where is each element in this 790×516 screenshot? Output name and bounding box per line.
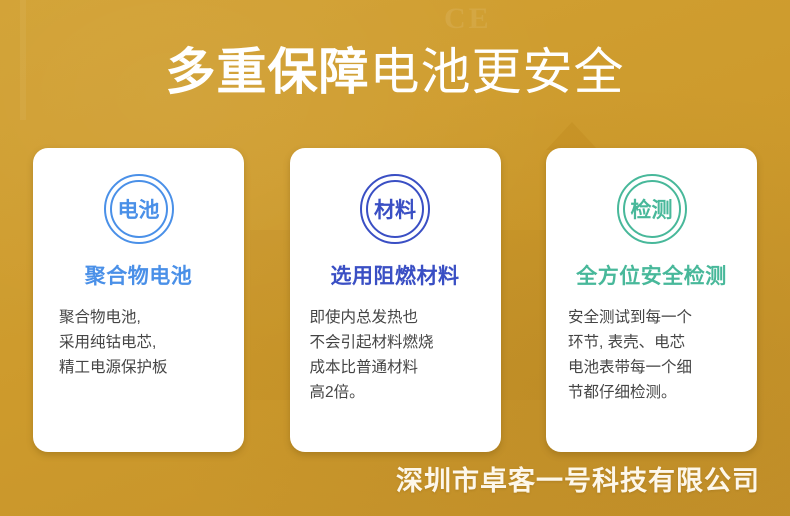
- ce-mark-watermark: CE: [444, 2, 492, 36]
- card-body-line: 节都仔细检测。: [568, 380, 740, 405]
- card-title: 选用阻燃材料: [290, 265, 501, 288]
- card-body: 安全测试到每一个 环节, 表壳、电芯 电池表带每一个细 节都仔细检测。: [546, 305, 757, 405]
- icon-label: 电池: [104, 174, 174, 244]
- card-body: 即使内总发热也 不会引起材料燃烧 成本比普通材料 高2倍。: [290, 305, 501, 405]
- card-body-line: 采用纯钴电芯,: [59, 330, 227, 355]
- battery-badge-icon: 电池: [104, 174, 174, 244]
- card-title: 聚合物电池: [33, 265, 244, 288]
- background-texture-triangle: [546, 122, 598, 150]
- card-title: 全方位安全检测: [546, 265, 757, 288]
- card-body-line: 成本比普通材料: [310, 355, 484, 380]
- company-name: 深圳市卓客一号科技有限公司: [0, 459, 760, 498]
- card-body-line: 高2倍。: [310, 380, 484, 405]
- card-body: 聚合物电池, 采用纯钴电芯, 精工电源保护板: [33, 305, 244, 380]
- card-body-line: 精工电源保护板: [59, 355, 227, 380]
- card-body-line: 电池表带每一个细: [568, 355, 740, 380]
- card-body-line: 聚合物电池,: [59, 305, 227, 330]
- feature-card[interactable]: 检测 全方位安全检测 安全测试到每一个 环节, 表壳、电芯 电池表带每一个细 节…: [546, 148, 757, 452]
- headline-bold-text: 多重保障: [166, 44, 370, 100]
- card-body-line: 环节, 表壳、电芯: [568, 330, 740, 355]
- feature-card[interactable]: 材料 选用阻燃材料 即使内总发热也 不会引起材料燃烧 成本比普通材料 高2倍。: [290, 148, 501, 452]
- page-title: 多重保障电池更安全: [0, 47, 790, 97]
- feature-card[interactable]: 电池 聚合物电池 聚合物电池, 采用纯钴电芯, 精工电源保护板: [33, 148, 244, 452]
- card-body-line: 不会引起材料燃烧: [310, 330, 484, 355]
- promo-poster: CE 多重保障电池更安全 电池 聚合物电池 聚合物电池, 采用纯钴电芯, 精工电…: [0, 0, 790, 516]
- card-body-line: 安全测试到每一个: [568, 305, 740, 330]
- headline-light-text: 电池更安全: [370, 44, 625, 100]
- feature-card-list: 电池 聚合物电池 聚合物电池, 采用纯钴电芯, 精工电源保护板 材料 选用阻燃材…: [33, 148, 757, 452]
- inspection-badge-icon: 检测: [617, 174, 687, 244]
- icon-label: 检测: [617, 174, 687, 244]
- card-body-line: 即使内总发热也: [310, 305, 484, 330]
- icon-label: 材料: [360, 174, 430, 244]
- material-badge-icon: 材料: [360, 174, 430, 244]
